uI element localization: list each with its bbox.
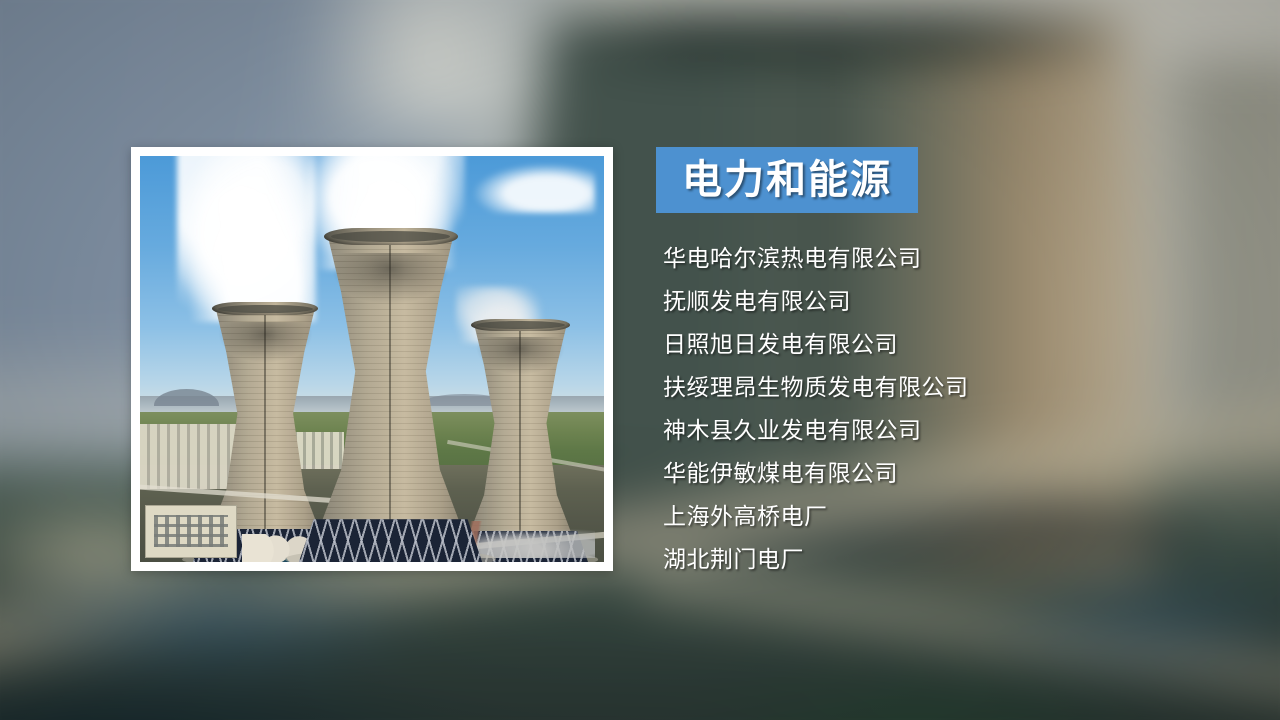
list-item: 日照旭日发电有限公司 <box>663 324 1223 367</box>
list-item: 华电哈尔滨热电有限公司 <box>663 238 1223 281</box>
title-banner: 电力和能源 <box>656 147 918 213</box>
photo-steam-plume-left <box>177 156 316 322</box>
photo-frame <box>131 147 613 571</box>
photo-cloud <box>474 164 595 213</box>
tower-support-legs-cross <box>299 519 482 562</box>
photo-building-foreground <box>145 505 238 558</box>
list-item: 上海外高桥电厂 <box>663 496 1223 539</box>
list-item: 湖北荆门电厂 <box>663 539 1223 582</box>
list-item: 扶绥理昂生物质发电有限公司 <box>663 367 1223 410</box>
page-title: 电力和能源 <box>682 160 892 200</box>
cooling-towers-photo <box>140 156 604 562</box>
company-list: 华电哈尔滨热电有限公司 抚顺发电有限公司 日照旭日发电有限公司 扶绥理昂生物质发… <box>663 238 1223 582</box>
list-item: 神木县久业发电有限公司 <box>663 410 1223 453</box>
photo-cooling-tower-center <box>302 233 478 562</box>
tower-seam <box>389 240 391 549</box>
tower-seam <box>264 311 266 551</box>
tower-seam <box>519 327 521 552</box>
slide-root: 电力和能源 华电哈尔滨热电有限公司 抚顺发电有限公司 日照旭日发电有限公司 扶绥… <box>0 0 1280 720</box>
list-item: 华能伊敏煤电有限公司 <box>663 453 1223 496</box>
list-item: 抚顺发电有限公司 <box>663 281 1223 324</box>
